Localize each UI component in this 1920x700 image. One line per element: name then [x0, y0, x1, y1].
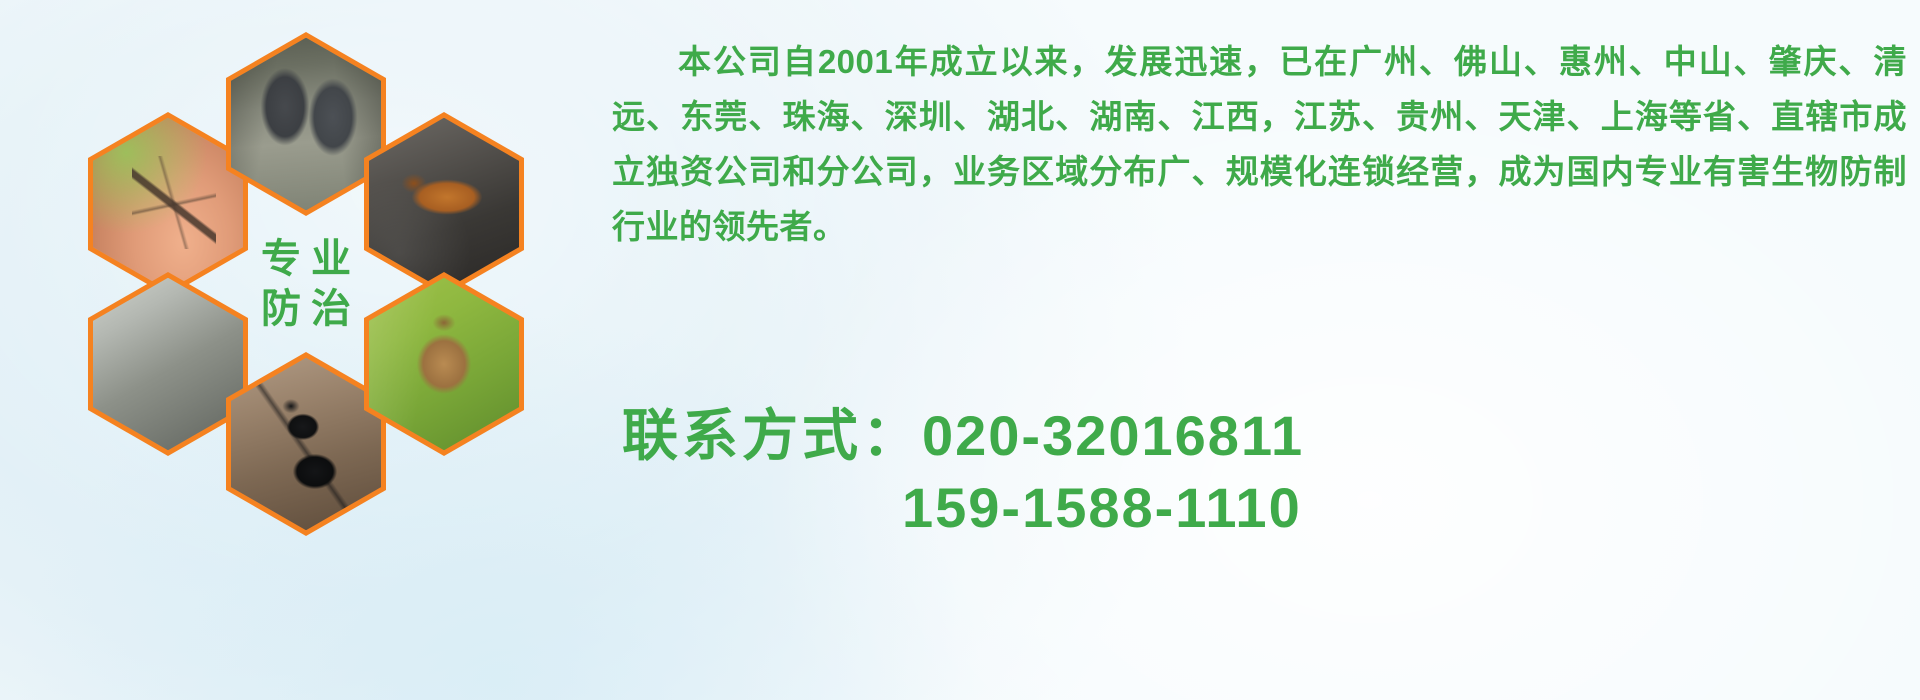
mosquito-photo [93, 118, 243, 290]
hex-tile-center-label: 专业 防治 [226, 192, 386, 376]
hex-photo-mosquito [93, 118, 243, 290]
hex-tile-cockroach [364, 112, 524, 296]
hex-tile-stink-bug [364, 272, 524, 456]
contact-secondary-line: 159-1588-1110 [612, 472, 1912, 544]
promo-banner: 专业 防治 本公司自2001年成立以来，发展迅速，已在广州、佛山、惠州、中山、肇… [0, 0, 1920, 700]
hex-photo-rats [231, 38, 381, 210]
hex-tile-rats [226, 32, 386, 216]
hex-photo-flies [93, 278, 243, 450]
stink-bug-photo [369, 278, 519, 450]
flies-photo [93, 278, 243, 450]
hex-photo-cockroach [369, 118, 519, 290]
intro-copy-block: 本公司自2001年成立以来，发展迅速，已在广州、佛山、惠州、中山、肇庆、清远、东… [612, 34, 1892, 254]
hex-photo-stink-bug [369, 278, 519, 450]
cockroach-photo [369, 118, 519, 290]
center-slogan-line-1: 专业 [251, 239, 361, 279]
hex-tile-mosquito [88, 112, 248, 296]
hex-tile-flies [88, 272, 248, 456]
ant-photo [231, 358, 381, 530]
contact-block: 联系方式：020-32016811 159-1588-1110 [612, 400, 1912, 544]
contact-phone-primary[interactable]: 020-32016811 [922, 404, 1304, 467]
honeycomb-collage: 专业 防治 [88, 8, 588, 568]
hex-photo-ant [231, 358, 381, 530]
center-slogan: 专业 防治 [231, 198, 381, 370]
contact-label: 联系方式： [622, 404, 922, 467]
rats-photo [231, 38, 381, 210]
contact-phone-secondary[interactable]: 159-1588-1110 [902, 476, 1302, 539]
hex-center-inner: 专业 防治 [231, 198, 381, 370]
intro-paragraph: 本公司自2001年成立以来，发展迅速，已在广州、佛山、惠州、中山、肇庆、清远、东… [612, 34, 1907, 254]
center-slogan-line-2: 防治 [251, 289, 361, 329]
hex-tile-ant [226, 352, 386, 536]
contact-primary-line: 联系方式：020-32016811 [612, 400, 1912, 472]
